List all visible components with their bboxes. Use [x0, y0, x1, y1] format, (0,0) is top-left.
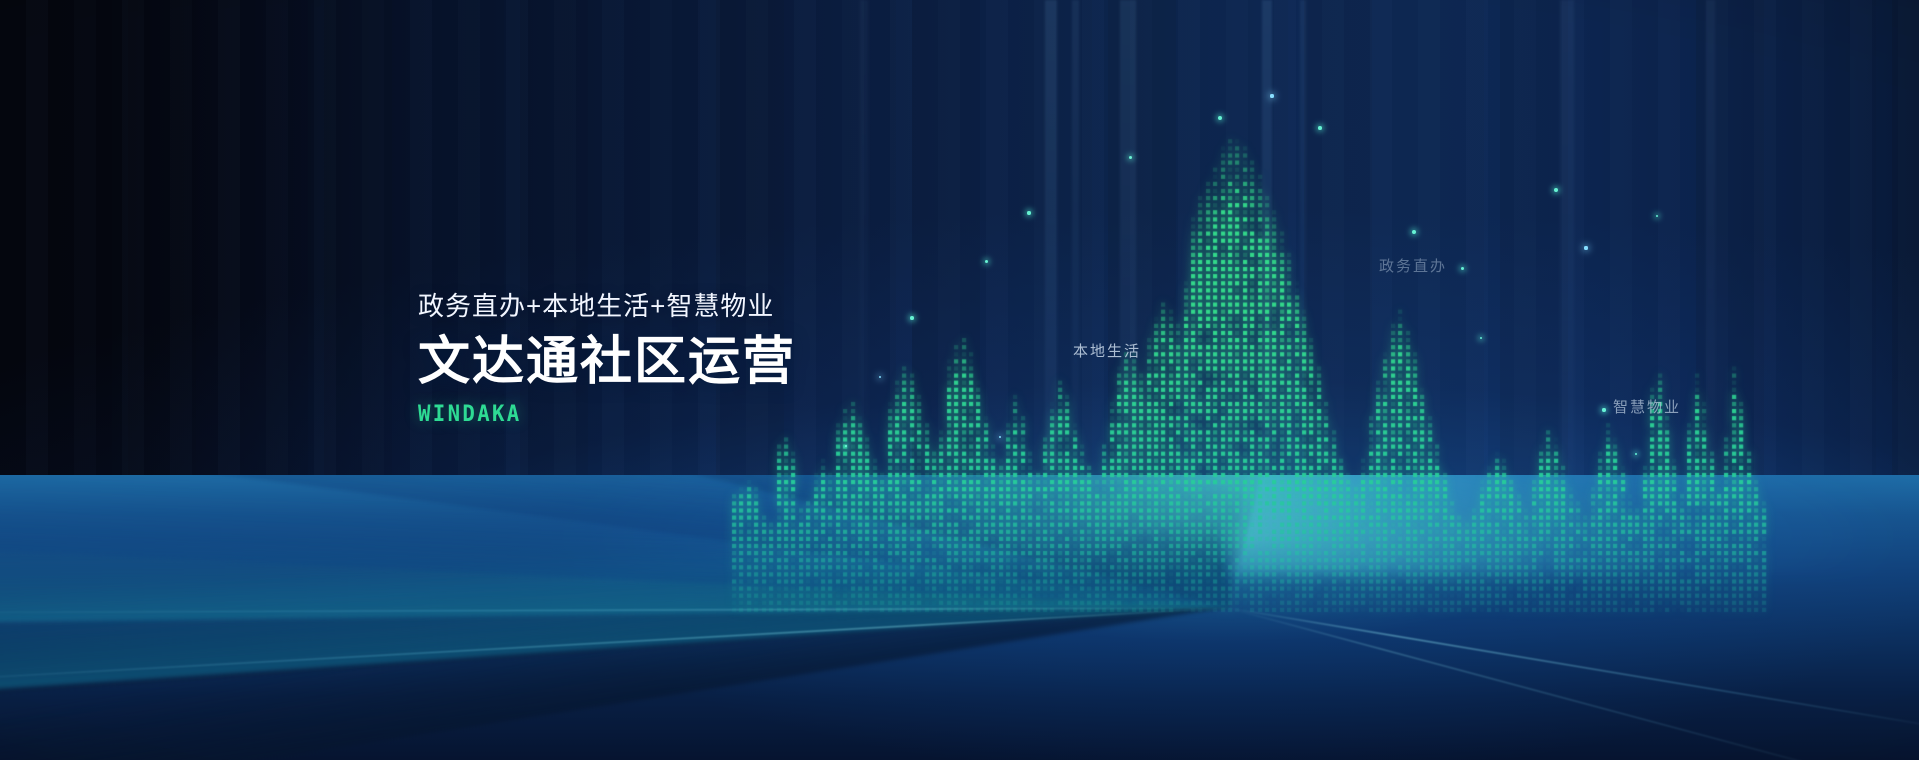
banner-headline: 文达通社区运营	[418, 334, 796, 390]
skyline-canvas	[0, 0, 1919, 760]
dot-matrix-skyline	[0, 0, 1919, 760]
banner-subtitle: 政务直办+本地生活+智慧物业	[418, 290, 796, 323]
copy-block: 政务直办+本地生活+智慧物业 文达通社区运营 WINDAKA	[418, 290, 796, 427]
brand-wordmark: WINDAKA	[418, 402, 773, 427]
promo-banner: 本地生活政务直办智慧物业 政务直办+本地生活+智慧物业 文达通社区运营 WIND…	[0, 0, 1919, 760]
